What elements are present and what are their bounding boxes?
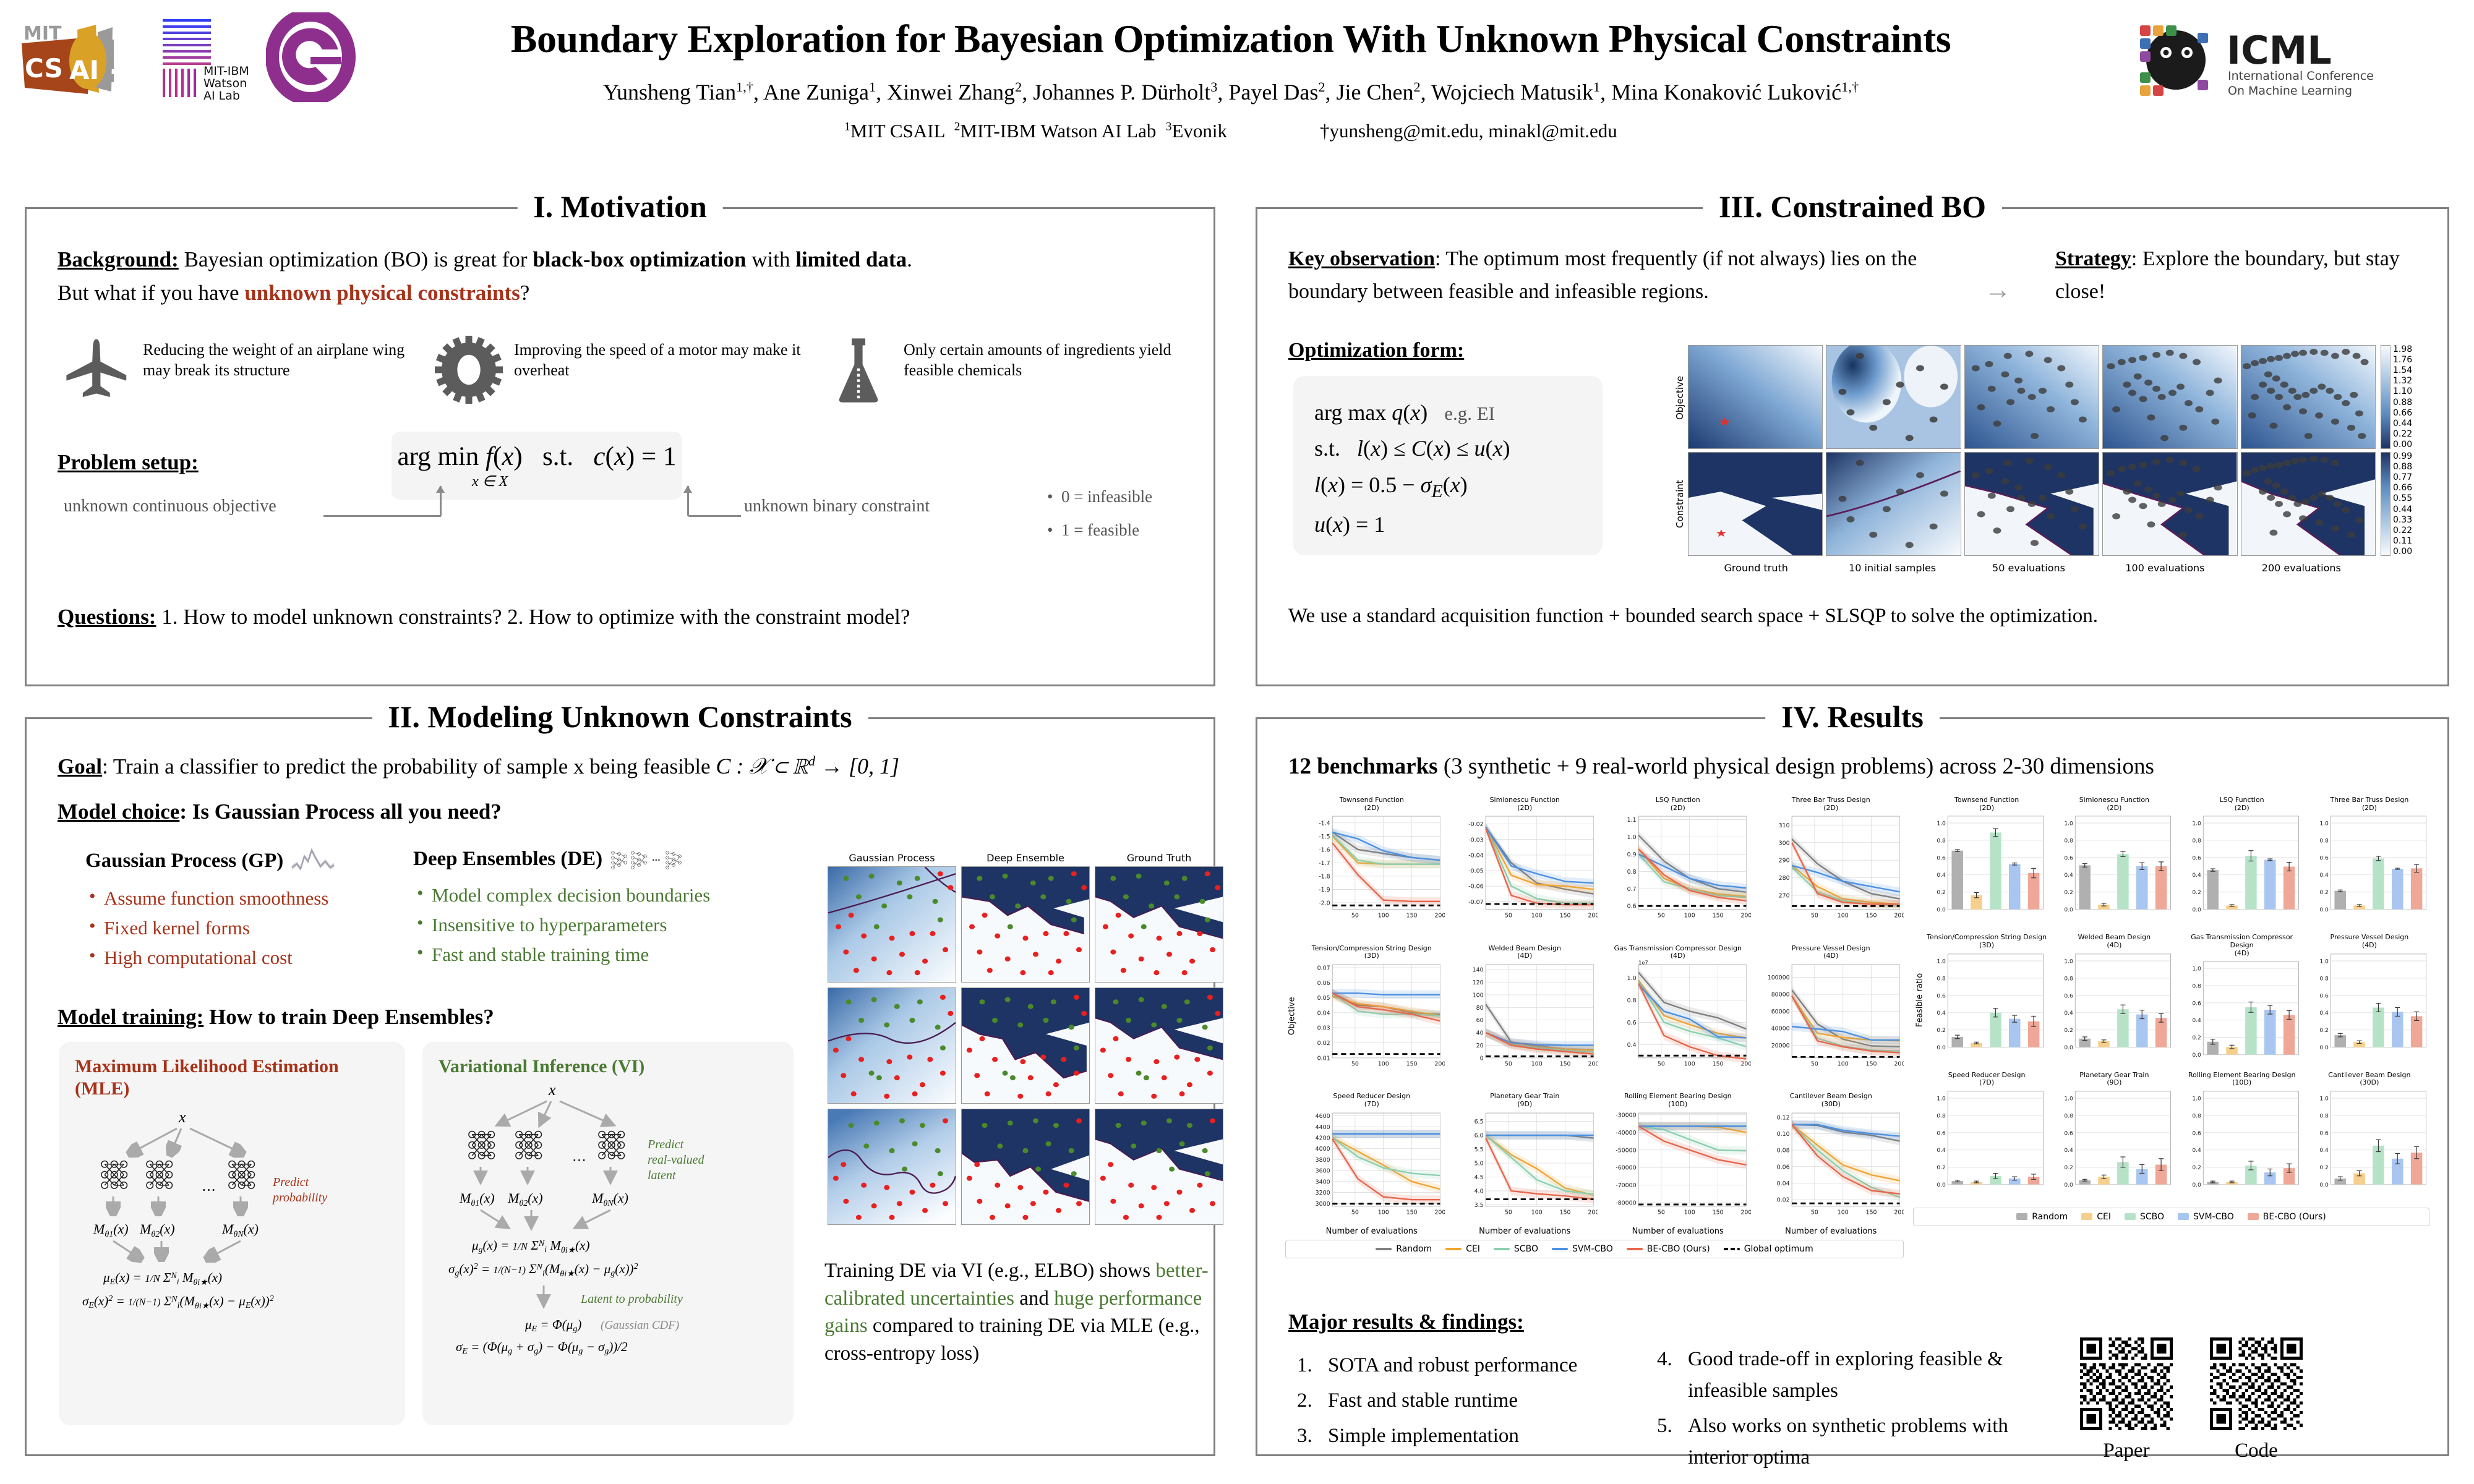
svg-text:150: 150 xyxy=(1406,1209,1418,1216)
vi-note-line2: real-valued xyxy=(648,1153,704,1167)
feasible-ratio-chart-3: Three Bar Truss Design(2D) 1.00.80.60.40… xyxy=(2309,796,2429,929)
objective-chart-title-2: LSQ Function(2D) xyxy=(1605,796,1751,812)
svg-text:0.8: 0.8 xyxy=(1627,869,1637,876)
cbt-2: 1.54 xyxy=(2393,366,2412,375)
feasibility-label-0: 0 = infeasible xyxy=(1061,487,1152,506)
svg-text:310: 310 xyxy=(1778,822,1789,829)
svg-text:50: 50 xyxy=(1351,1209,1359,1216)
feasible-ratio-chart-grid: Townsend Function(2D) 1.00.80.60.40.20.0… xyxy=(1927,796,2429,1204)
model-comparison-figure: Gaussian Process Deep Ensemble Ground Tr… xyxy=(828,852,1223,1235)
neural-network-trio-icon: ··· xyxy=(610,849,684,870)
svg-text:3200: 3200 xyxy=(1316,1190,1330,1196)
feasible-ratio-chart-title-7: Pressure Vessel Design(4D) xyxy=(2309,934,2429,949)
svg-text:0.2: 0.2 xyxy=(2192,1165,2201,1171)
svg-text:0.4: 0.4 xyxy=(2065,873,2074,879)
arrow-right-icon: → xyxy=(1984,274,2011,305)
svg-text:150: 150 xyxy=(1713,913,1724,919)
feasible-ratio-chart-title-0: Townsend Function(2D) xyxy=(1927,796,2047,812)
objective-chart-title-3: Three Bar Truss Design(2D) xyxy=(1758,796,1904,812)
qr-item-code[interactable]: Code xyxy=(2210,1337,2303,1462)
finding-num-4: 4. xyxy=(1657,1344,1672,1375)
svg-text:6.0: 6.0 xyxy=(1474,1132,1483,1139)
objective-chart-title-10: Rolling Element Bearing Design(10D) xyxy=(1605,1093,1751,1108)
svg-text:1.0: 1.0 xyxy=(2065,821,2074,827)
feasible-ratio-legend-swatch-1 xyxy=(2081,1213,2092,1220)
svg-text:60000: 60000 xyxy=(1771,1009,1789,1015)
affiliation-row: 1MIT CSAIL 2MIT-IBM Watson AI Lab 3Evoni… xyxy=(371,120,2091,142)
objective-legend-swatch-5 xyxy=(1724,1248,1740,1250)
airplane-icon xyxy=(64,336,132,404)
svg-text:50: 50 xyxy=(1658,913,1665,919)
svg-text:100: 100 xyxy=(1378,1209,1389,1216)
tile-de-row3 xyxy=(961,1109,1090,1225)
svg-text:AI Lab: AI Lab xyxy=(203,89,240,102)
tile-gt-row1 xyxy=(1095,866,1223,983)
background-text-a: Bayesian optimization (BO) is great for xyxy=(179,247,533,271)
feasible-ratio-chart-title-3: Three Bar Truss Design(2D) xyxy=(2309,796,2429,812)
background-text-e: ? xyxy=(520,281,530,305)
svg-text:0.2: 0.2 xyxy=(2192,1035,2201,1041)
svg-text:0.0: 0.0 xyxy=(1937,1182,1946,1188)
svg-text:150: 150 xyxy=(1713,1061,1724,1068)
svg-text:290: 290 xyxy=(1778,858,1789,864)
feasible-ratio-chart-title-11: Cantilever Beam Design(30D) xyxy=(2309,1072,2429,1087)
panel-title-constrained-bo: III. Constrained BO xyxy=(1703,189,2002,224)
feasible-ratio-legend-swatch-3 xyxy=(2178,1213,2189,1220)
mle-input-label: x xyxy=(178,1108,186,1126)
gear-icon xyxy=(435,336,503,404)
goal-line: Goal: Train a classifier to predict the … xyxy=(58,753,899,780)
svg-text:-1.4: -1.4 xyxy=(1319,821,1330,827)
svg-text:1.0: 1.0 xyxy=(1937,821,1946,827)
figure-row-label-constraint: Constraint xyxy=(1672,450,1688,558)
cbb-2: 0.77 xyxy=(2393,473,2412,482)
panel-motivation: I. Motivation Background: Bayesian optim… xyxy=(25,207,1215,686)
svg-text:0.2: 0.2 xyxy=(1937,1028,1946,1034)
svg-text:1.0: 1.0 xyxy=(2065,958,2074,965)
vi-equation-4: σE = (Φ(μg + σg) − Φ(μg − σg))/2 xyxy=(456,1339,628,1356)
feasible-ratio-legend-item-4: BE-CBO (Ours) xyxy=(2248,1212,2326,1222)
svg-text:···: ··· xyxy=(652,856,661,864)
svg-text:100: 100 xyxy=(1837,913,1848,919)
cbt-4: 1.10 xyxy=(2393,387,2412,396)
svg-text:200: 200 xyxy=(1894,1209,1904,1216)
objective-convergence-charts: Objective Townsend Function(2D) -1.4-1.5… xyxy=(1285,796,1904,1285)
tile-gt-row3 xyxy=(1095,1109,1223,1225)
modeling-caption-c: compared to training DE via MLE (e.g., c… xyxy=(824,1315,1200,1365)
feasible-ratio-chart-title-9: Planetary Gear Train(9D) xyxy=(2054,1072,2174,1087)
problem-setup-formula-subscript: x ∈ X xyxy=(472,472,508,490)
feasible-ratio-chart-6: Gas Transmission Compressor Design(4D) 1… xyxy=(2182,934,2302,1066)
objective-legend-swatch-4 xyxy=(1627,1248,1643,1250)
mit-csail-logo: MIT CS AI xyxy=(19,19,136,99)
svg-text:0.4: 0.4 xyxy=(1937,1010,1946,1017)
feasible-ratio-chart-7: Pressure Vessel Design(4D) 1.00.80.60.40… xyxy=(2309,934,2429,1066)
optimization-equation-2: l(x) = 0.5 − σE(x) xyxy=(1314,467,1582,507)
svg-text:150: 150 xyxy=(1406,913,1418,919)
model-choice-line: Model choice: Is Gaussian Process all yo… xyxy=(58,800,502,824)
svg-text:4600: 4600 xyxy=(1316,1113,1330,1120)
svg-text:3400: 3400 xyxy=(1316,1179,1330,1185)
svg-text:50: 50 xyxy=(1504,1209,1512,1216)
objective-chart-title-7: Pressure Vessel Design(4D) xyxy=(1758,945,1904,960)
svg-text:0.12: 0.12 xyxy=(1776,1114,1789,1121)
feasible-ratio-legend-label-4: BE-CBO (Ours) xyxy=(2263,1212,2326,1222)
colorbar-constraint-ticks: 0.99 0.88 0.77 0.66 0.55 0.44 0.33 0.22 … xyxy=(2391,452,2412,556)
background-bold-1: black-box optimization xyxy=(533,247,746,271)
cbb-8: 0.11 xyxy=(2393,537,2412,545)
svg-text:100: 100 xyxy=(1531,1061,1542,1068)
motivation-icon-row: Reducing the weight of an airplane wing … xyxy=(64,336,1196,404)
objective-chart-title-0: Townsend Function(2D) xyxy=(1299,796,1445,812)
svg-text:200: 200 xyxy=(1740,1209,1750,1216)
svg-text:0.0: 0.0 xyxy=(2192,1182,2201,1188)
svg-text:0.8: 0.8 xyxy=(2192,984,2201,990)
svg-text:200: 200 xyxy=(1894,913,1904,919)
cbb-1: 0.88 xyxy=(2393,463,2412,471)
icml-subtitle-2: On Machine Learning xyxy=(2228,84,2352,98)
annotation-constraint: unknown binary constraint xyxy=(744,497,930,516)
feasible-ratio-chart-2: LSQ Function(2D) 1.00.80.60.40.20.0 xyxy=(2182,796,2302,929)
svg-text:200: 200 xyxy=(1740,913,1750,919)
objective-chart-2: LSQ Function(2D) 1.11.00.90.80.70.650100… xyxy=(1605,796,1751,940)
finding-item-1: 1.SOTA and robust performance xyxy=(1293,1350,1627,1381)
model-choice-label: Model choice xyxy=(58,800,179,824)
background-label: Background: xyxy=(58,247,179,271)
cbb-7: 0.22 xyxy=(2393,526,2412,535)
finding-item-3: 3.Simple implementation xyxy=(1293,1420,1627,1452)
optimization-equation-1: s.t. l(x) ≤ C(x) ≤ u(x) xyxy=(1314,430,1582,466)
objective-x-axis-label-8: Number of evaluations xyxy=(1299,1227,1445,1236)
finding-item-4: 4.Good trade-off in exploring feasible &… xyxy=(1653,1344,2037,1407)
feasible-ratio-chart-9: Planetary Gear Train(9D) 1.00.80.60.40.2… xyxy=(2054,1072,2174,1204)
motivation-example-gear: Improving the speed of a motor may make … xyxy=(435,336,824,404)
comparison-col-label-2: Ground Truth xyxy=(1095,852,1223,864)
svg-text:5.5: 5.5 xyxy=(1474,1146,1483,1153)
svg-text:-0.06: -0.06 xyxy=(1468,884,1483,890)
qr-paper-label: Paper xyxy=(2080,1439,2173,1462)
problem-setup-formula: arg min f(x) s.t. c(x) = 1 xyxy=(392,441,682,472)
svg-text:-1.7: -1.7 xyxy=(1319,860,1330,867)
svg-text:0.0: 0.0 xyxy=(2319,1045,2329,1051)
finding-num-3: 3. xyxy=(1297,1420,1312,1452)
svg-text:3600: 3600 xyxy=(1316,1167,1330,1174)
svg-text:1.1: 1.1 xyxy=(1627,817,1637,824)
vi-input-label: x xyxy=(548,1081,556,1099)
svg-text:-1.8: -1.8 xyxy=(1319,874,1330,881)
svg-text:-1.6: -1.6 xyxy=(1319,847,1330,854)
svg-text:0.04: 0.04 xyxy=(1776,1180,1789,1187)
icml-logo: ICML International Conference On Machine… xyxy=(2134,15,2455,108)
key-observation-label: Key observation xyxy=(1288,247,1435,270)
svg-text:0.8: 0.8 xyxy=(2065,1113,2074,1119)
svg-text:50: 50 xyxy=(1658,1209,1665,1216)
tile-gt-row2 xyxy=(1095,987,1223,1104)
svg-text:100: 100 xyxy=(1684,913,1695,919)
tile-objective-200evals xyxy=(2241,345,2376,449)
feasible-ratio-legend-item-0: Random xyxy=(2016,1212,2068,1222)
svg-text:0.4: 0.4 xyxy=(2192,1018,2201,1024)
svg-text:100: 100 xyxy=(1378,913,1389,919)
svg-text:0.0: 0.0 xyxy=(2192,1052,2201,1059)
problem-setup-formula-box: arg min f(x) s.t. c(x) = 1 x ∈ X xyxy=(392,432,682,500)
model-comparison-col-labels: Gaussian Process Deep Ensemble Ground Tr… xyxy=(828,852,1223,864)
mle-note-line2: probability xyxy=(272,1191,327,1205)
cbt-0: 1.98 xyxy=(2393,345,2412,354)
figure-col-label-2: 50 evaluations xyxy=(1961,562,2097,574)
svg-text:0.9: 0.9 xyxy=(1627,851,1637,858)
objective-chart-6: Gas Transmission Compressor Design(4D) 1… xyxy=(1605,945,1751,1088)
svg-text:0.6: 0.6 xyxy=(2065,1130,2074,1136)
tile-de-row2 xyxy=(961,987,1090,1104)
svg-text:0.10: 0.10 xyxy=(1776,1131,1789,1138)
svg-text:150: 150 xyxy=(1559,913,1570,919)
gp-bullet-1: Fixed kernel forms xyxy=(85,913,407,943)
tile-objective-50evals xyxy=(1964,345,2099,449)
colorbar-constraint xyxy=(2381,452,2391,556)
objective-chart-title-9: Planetary Gear Train(9D) xyxy=(1452,1093,1598,1108)
finding-text-1: SOTA and robust performance xyxy=(1328,1354,1577,1376)
mle-equation-1: μE(x) = 1/N ΣNi Mθi★(x) xyxy=(103,1270,222,1287)
vi-equation-2: σg(x)2 = 1/(N−1) ΣNi(Mθi★(x) − μg(x))2 xyxy=(448,1261,638,1279)
svg-text:3000: 3000 xyxy=(1316,1201,1330,1208)
svg-text:200: 200 xyxy=(1588,1209,1598,1216)
objective-legend-label-3: SVM-CBO xyxy=(1572,1244,1613,1254)
motivation-example-airplane: Reducing the weight of an airplane wing … xyxy=(64,336,435,404)
cbt-9: 0.00 xyxy=(2393,440,2412,449)
objective-legend-label-4: BE-CBO (Ours) xyxy=(1647,1244,1710,1254)
mle-box: Maximum Likelihood Estimation (MLE) x xyxy=(59,1042,405,1425)
svg-text:50: 50 xyxy=(1810,913,1818,919)
feasible-ratio-legend-item-1: CEI xyxy=(2081,1212,2111,1222)
svg-text:0.2: 0.2 xyxy=(2319,1165,2329,1171)
svg-text:50: 50 xyxy=(1504,1061,1512,1068)
mle-output-0: Mθ1(x) xyxy=(93,1221,129,1239)
svg-text:40: 40 xyxy=(1476,1030,1483,1037)
benchmark-description: (3 synthetic + 9 real-world physical des… xyxy=(1438,754,2154,779)
objective-chart-4: Tension/Compression String Design(3D) 0.… xyxy=(1299,945,1445,1088)
feasibility-item-1: • 1 = feasible xyxy=(1047,513,1152,547)
gp-curve-icon xyxy=(291,848,335,874)
svg-text:50: 50 xyxy=(1504,913,1512,919)
tile-objective-groundtruth: ★ xyxy=(1688,345,1823,449)
gp-bullet-0: Assume function smoothness xyxy=(85,884,407,913)
finding-text-4: Good trade-off in exploring feasible & i… xyxy=(1688,1348,2003,1402)
svg-text:1.0: 1.0 xyxy=(1627,834,1637,841)
svg-text:0.2: 0.2 xyxy=(1937,890,1946,896)
svg-text:0.7: 0.7 xyxy=(1627,886,1637,893)
cbt-3: 1.32 xyxy=(2393,377,2412,385)
svg-text:120: 120 xyxy=(1472,979,1483,986)
feasible-ratio-chart-5: Welded Beam Design(4D) 1.00.80.60.40.20.… xyxy=(2054,934,2174,1066)
gp-heading: Gaussian Process (GP) xyxy=(85,850,283,872)
svg-text:1.0: 1.0 xyxy=(1627,975,1637,982)
comparison-tiles xyxy=(828,866,1223,1225)
svg-text:1.0: 1.0 xyxy=(1937,1096,1946,1102)
tile-constraint-100evals xyxy=(2102,452,2237,556)
svg-text:100: 100 xyxy=(1531,1209,1542,1216)
motivation-caption-gear: Improving the speed of a motor may make … xyxy=(514,336,824,381)
qr-paper-icon[interactable] xyxy=(2080,1337,2173,1430)
svg-text:0.05: 0.05 xyxy=(1317,995,1330,1002)
svg-text:200: 200 xyxy=(1894,1061,1904,1068)
cbt-8: 0.22 xyxy=(2393,430,2412,438)
svg-text:0.03: 0.03 xyxy=(1317,1025,1330,1032)
feasible-ratio-legend-swatch-0 xyxy=(2016,1213,2027,1220)
svg-text:0.4: 0.4 xyxy=(1937,873,1946,879)
svg-text:0.0: 0.0 xyxy=(2319,907,2329,913)
feasible-ratio-chart-10: Rolling Element Bearing Design(10D) 1.00… xyxy=(2182,1072,2302,1204)
feasible-ratio-chart-title-2: LSQ Function(2D) xyxy=(2182,796,2302,812)
svg-text:200: 200 xyxy=(1434,1061,1444,1068)
figure-column-labels: Ground truth 10 initial samples 50 evalu… xyxy=(1688,562,2369,574)
svg-text:0.8: 0.8 xyxy=(1937,838,1946,845)
panel-constrained-bo: III. Constrained BO Key observation: The… xyxy=(1256,207,2449,686)
svg-text:50: 50 xyxy=(1810,1209,1818,1216)
author-list: Yunsheng Tian1,†, Ane Zuniga1, Xinwei Zh… xyxy=(371,79,2091,106)
objective-x-axis-label-11: Number of evaluations xyxy=(1758,1227,1904,1236)
icml-subtitle-1: International Conference xyxy=(2228,69,2374,83)
svg-text:0.8: 0.8 xyxy=(2319,976,2329,982)
svg-text:1.0: 1.0 xyxy=(2319,821,2329,827)
svg-text:0.2: 0.2 xyxy=(1937,1165,1946,1171)
cbb-6: 0.33 xyxy=(2393,516,2412,524)
objective-chart-0: Townsend Function(2D) -1.4-1.5-1.6-1.7-1… xyxy=(1299,796,1445,940)
svg-text:0.2: 0.2 xyxy=(2065,890,2074,896)
tile-gp-row3 xyxy=(828,1109,956,1225)
acquisition-example: e.g. EI xyxy=(1444,403,1495,424)
objective-chart-legend: Random CEI SCBO SVM-CBO BE-CBO (Ours) Gl… xyxy=(1285,1240,1904,1258)
svg-text:-40000: -40000 xyxy=(1616,1130,1636,1136)
feasible-ratio-legend-swatch-4 xyxy=(2248,1213,2259,1220)
svg-text:Watson: Watson xyxy=(203,77,247,90)
modeling-caption: Training DE via VI (e.g., ELBO) shows be… xyxy=(824,1257,1226,1367)
svg-text:-70000: -70000 xyxy=(1616,1182,1636,1189)
svg-text:-60000: -60000 xyxy=(1616,1164,1636,1171)
optimization-form-box: arg max q(x) e.g. EI s.t. l(x) ≤ C(x) ≤ … xyxy=(1293,376,1603,555)
feasibility-legend: • 0 = infeasible • 1 = feasible xyxy=(1047,480,1152,547)
svg-text:3800: 3800 xyxy=(1316,1157,1330,1164)
objective-chart-title-6: Gas Transmission Compressor Design(4D) xyxy=(1605,945,1751,960)
objective-chart-7: Pressure Vessel Design(4D) 1000008000060… xyxy=(1758,945,1904,1088)
strategy-label: Strategy xyxy=(2055,247,2131,270)
svg-text:150: 150 xyxy=(1865,1061,1877,1068)
qr-item-paper[interactable]: Paper xyxy=(2080,1337,2173,1462)
svg-text:100: 100 xyxy=(1684,1209,1695,1216)
svg-text:0.01: 0.01 xyxy=(1317,1055,1330,1062)
qr-code-icon[interactable] xyxy=(2210,1337,2303,1430)
svg-text:140: 140 xyxy=(1472,967,1483,974)
svg-text:0.8: 0.8 xyxy=(2192,1113,2201,1119)
svg-text:0.4: 0.4 xyxy=(2192,873,2201,879)
svg-text:0.6: 0.6 xyxy=(1937,856,1946,862)
feasible-ratio-legend-item-3: SVM-CBO xyxy=(2178,1212,2234,1222)
svg-text:★: ★ xyxy=(1715,528,1727,539)
svg-text:-80000: -80000 xyxy=(1616,1200,1636,1206)
mle-output-1: Mθ2(x) xyxy=(139,1221,175,1239)
objective-legend-label-2: SCBO xyxy=(1514,1244,1538,1254)
svg-text:150: 150 xyxy=(1713,1209,1724,1216)
feasible-ratio-legend-label-0: Random xyxy=(2032,1212,2068,1222)
svg-text:0.2: 0.2 xyxy=(2192,890,2201,896)
svg-text:4.5: 4.5 xyxy=(1474,1174,1483,1181)
de-bullet-0: Model complex decision boundaries xyxy=(413,881,797,910)
poster-header: MIT CS AI xyxy=(0,0,2474,185)
feasible-ratio-legend-label-1: CEI xyxy=(2097,1212,2111,1222)
tile-de-row1 xyxy=(961,866,1090,983)
svg-text:★: ★ xyxy=(1718,416,1731,429)
figure-col-label-4: 200 evaluations xyxy=(2233,562,2369,574)
objective-x-axis-label-10: Number of evaluations xyxy=(1605,1227,1751,1236)
objective-chart-8: Speed Reducer Design(7D) 460044004200400… xyxy=(1299,1093,1445,1236)
de-heading-row: Deep Ensembles (DE) xyxy=(413,848,797,871)
objective-chart-1: Simionescu Function(2D) -0.02-0.03-0.04-… xyxy=(1452,796,1598,940)
svg-text:100: 100 xyxy=(1531,913,1542,919)
motivation-caption-flask: Only certain amounts of ingredients yiel… xyxy=(904,336,1196,381)
cbb-3: 0.66 xyxy=(2393,484,2412,492)
vi-title: Variational Inference (VI) xyxy=(439,1055,777,1078)
svg-text:0.02: 0.02 xyxy=(1317,1040,1330,1047)
mle-note-line1: Predict xyxy=(272,1175,309,1189)
svg-text:0.2: 0.2 xyxy=(2319,890,2329,896)
feasible-ratio-chart-title-10: Rolling Element Bearing Design(10D) xyxy=(2182,1072,2302,1087)
svg-text:200: 200 xyxy=(1588,913,1598,919)
svg-text:60: 60 xyxy=(1476,1017,1483,1024)
objective-chart-title-1: Simionescu Function(2D) xyxy=(1452,796,1598,812)
svg-text:20000: 20000 xyxy=(1771,1043,1789,1049)
qr-code-group: Paper xyxy=(2080,1337,2303,1462)
feasible-ratio-chart-0: Townsend Function(2D) 1.00.80.60.40.20.0 xyxy=(1927,796,2047,929)
svg-text:MIT-IBM: MIT-IBM xyxy=(203,64,249,78)
gaussian-process-column: Gaussian Process (GP) Assume function sm… xyxy=(85,848,407,973)
svg-text:4000: 4000 xyxy=(1316,1146,1330,1153)
panel-title-modeling: II. Modeling Unknown Constraints xyxy=(372,699,868,735)
objective-legend-label-5: Global optimum xyxy=(1744,1244,1813,1254)
svg-text:100: 100 xyxy=(1472,992,1483,999)
contact-emails: †yunsheng@mit.edu, minakl@mit.edu xyxy=(1320,120,1617,142)
comparison-col-label-0: Gaussian Process xyxy=(828,852,956,864)
svg-text:50: 50 xyxy=(1351,1061,1359,1068)
svg-text:0.02: 0.02 xyxy=(1776,1196,1789,1203)
svg-text:0.4: 0.4 xyxy=(2319,1148,2329,1154)
objective-chart-title-4: Tension/Compression String Design(3D) xyxy=(1299,945,1445,960)
svg-text:-2.0: -2.0 xyxy=(1319,900,1330,907)
svg-text:0.6: 0.6 xyxy=(2192,1130,2201,1136)
svg-text:0.8: 0.8 xyxy=(2319,838,2329,845)
motivation-example-flask: Only certain amounts of ingredients yiel… xyxy=(824,336,1196,404)
panel-title-results: IV. Results xyxy=(1765,699,1940,735)
svg-text:0.2: 0.2 xyxy=(2065,1165,2074,1171)
objective-legend-item-1: CEI xyxy=(1445,1244,1480,1254)
vi-box: Variational Inference (VI) x xyxy=(422,1042,794,1425)
svg-text:-0.05: -0.05 xyxy=(1468,868,1483,875)
svg-text:0.07: 0.07 xyxy=(1317,965,1330,971)
svg-text:0.2: 0.2 xyxy=(2319,1028,2329,1034)
feasible-ratio-legend-swatch-2 xyxy=(2125,1213,2136,1220)
de-bullet-2: Fast and stable training time xyxy=(413,940,797,970)
feasibility-item-0: • 0 = infeasible xyxy=(1047,480,1152,513)
findings-column-left: 1.SOTA and robust performance 2.Fast and… xyxy=(1293,1350,1627,1456)
figure-col-label-3: 100 evaluations xyxy=(2097,562,2233,574)
feasible-ratio-chart-8: Speed Reducer Design(7D) 1.00.80.60.40.2… xyxy=(1927,1072,2047,1204)
arrow-objective xyxy=(440,486,442,516)
svg-text:0.4: 0.4 xyxy=(2065,1010,2074,1017)
svg-text:0.8: 0.8 xyxy=(2192,838,2201,845)
svg-text:4200: 4200 xyxy=(1316,1135,1330,1141)
svg-text:0.0: 0.0 xyxy=(2319,1182,2329,1188)
objective-legend-item-0: Random xyxy=(1376,1244,1432,1254)
problem-setup-label: Problem setup: xyxy=(58,450,199,475)
